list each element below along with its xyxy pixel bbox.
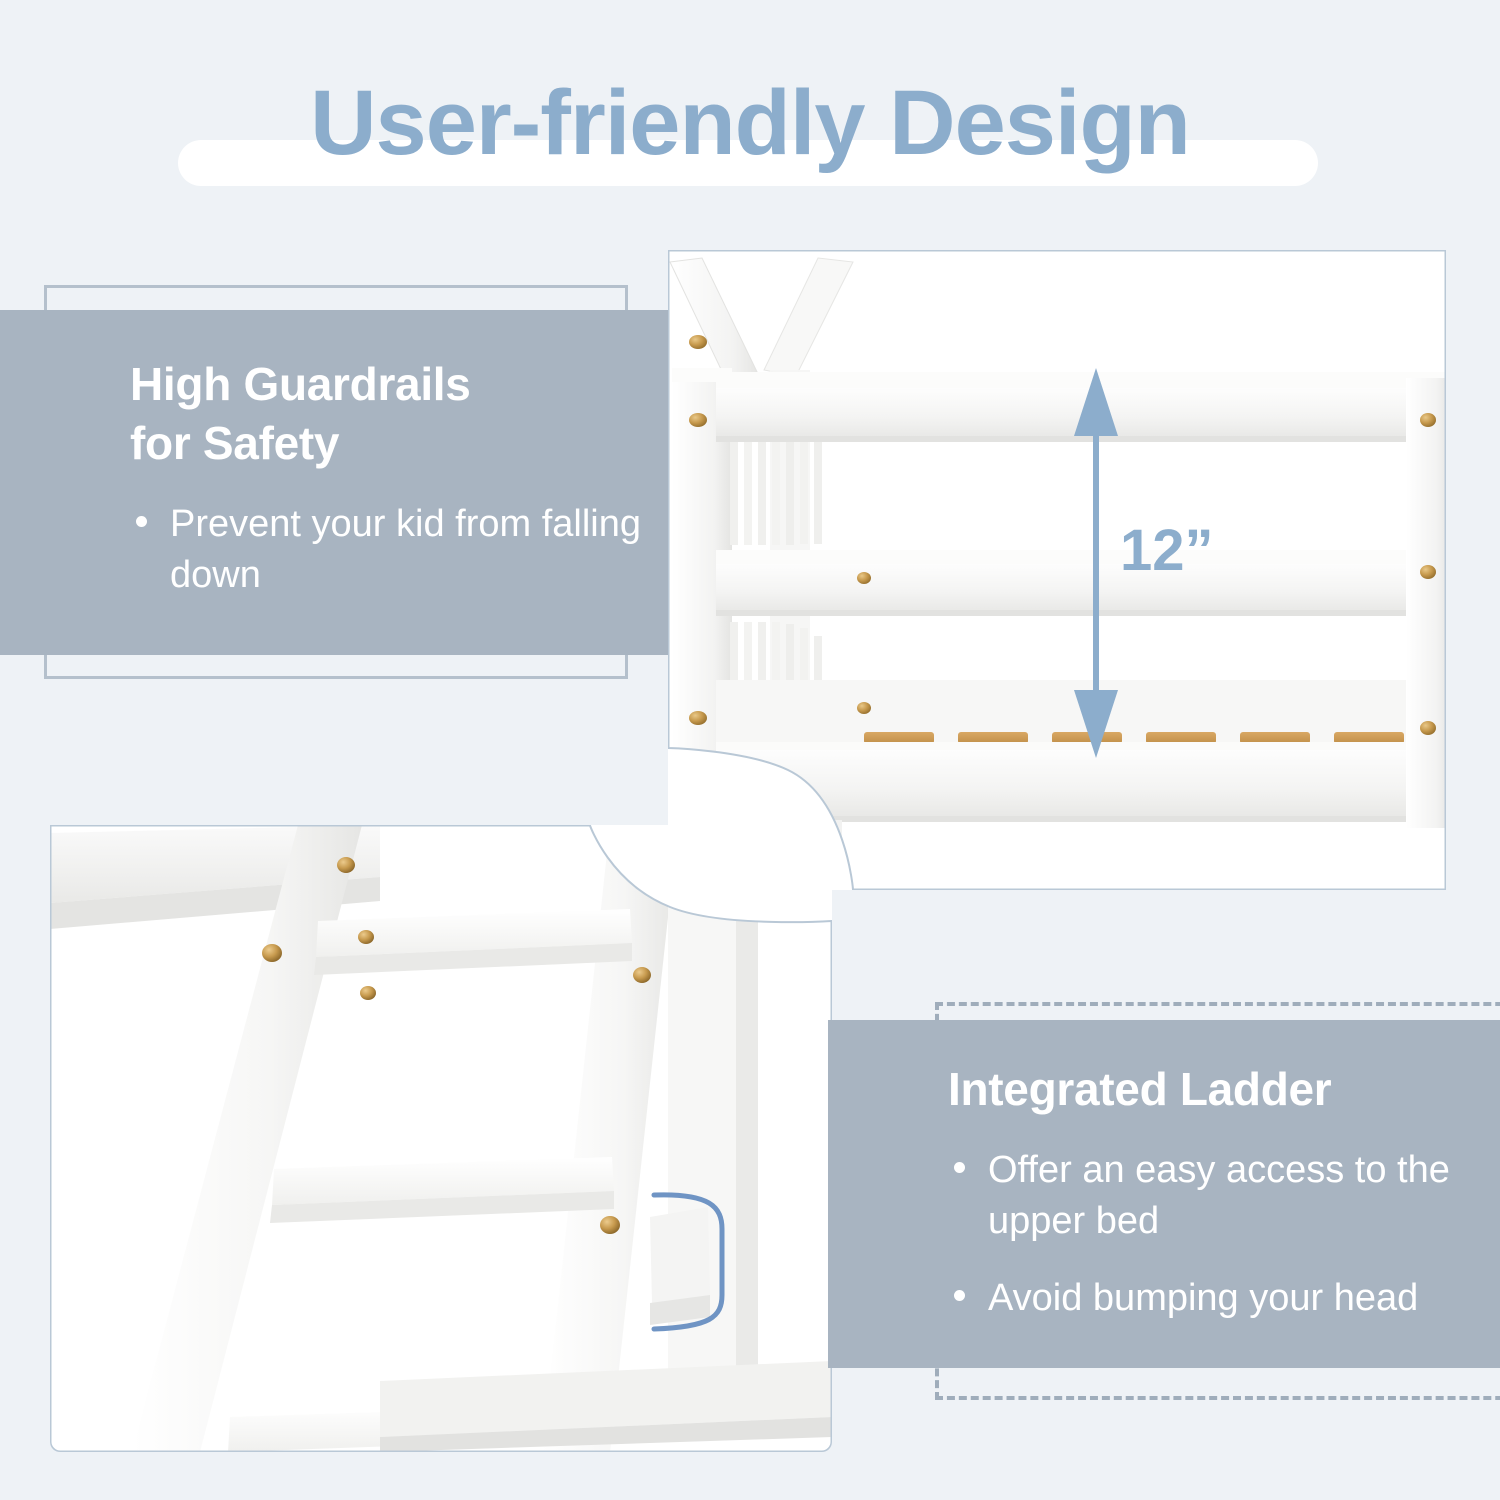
high-guardrails-text-block: High Guardrails for Safety Prevent your … xyxy=(130,355,650,601)
list-item: Prevent your kid from falling down xyxy=(130,499,650,601)
bullet-text: Offer an easy access to the upper bed xyxy=(988,1149,1450,1242)
list-item: Offer an easy access to the upper bed xyxy=(948,1145,1488,1247)
high-guardrails-heading-line-1: High Guardrails xyxy=(130,358,471,410)
page-title: User-friendly Design xyxy=(310,77,1190,169)
bullet-dot-icon xyxy=(954,1290,965,1301)
high-guardrails-heading-line-2: for Safety xyxy=(130,417,339,469)
guardrail-photo: 12” xyxy=(668,250,1446,890)
bullet-dot-icon xyxy=(136,516,147,527)
ladder-photo xyxy=(50,825,832,1452)
bullet-text: Avoid bumping your head xyxy=(988,1277,1418,1319)
page-title-container: User-friendly Design xyxy=(0,58,1500,188)
ladder-handle-block xyxy=(650,1207,710,1303)
list-item: Avoid bumping your head xyxy=(948,1273,1488,1324)
guardrail-middle xyxy=(716,550,1446,616)
dimension-label-12in: 12” xyxy=(1120,518,1214,583)
integrated-ladder-text-block: Integrated Ladder Offer an easy access t… xyxy=(948,1060,1488,1324)
integrated-ladder-heading: Integrated Ladder xyxy=(948,1060,1488,1119)
high-guardrails-bullet-list: Prevent your kid from falling down xyxy=(130,499,650,601)
guardrail-photo-frame: 12” xyxy=(668,250,1446,890)
right-post xyxy=(1406,378,1446,828)
high-guardrails-heading: High Guardrails for Safety xyxy=(130,355,650,473)
infographic-stage: User-friendly Design High Guardrails for… xyxy=(0,0,1500,1500)
ladder-photo-frame xyxy=(50,825,832,1452)
bullet-text: Prevent your kid from falling down xyxy=(170,503,641,596)
integrated-ladder-bullet-list: Offer an easy access to the upper bed Av… xyxy=(948,1145,1488,1324)
bullet-dot-icon xyxy=(954,1162,965,1173)
